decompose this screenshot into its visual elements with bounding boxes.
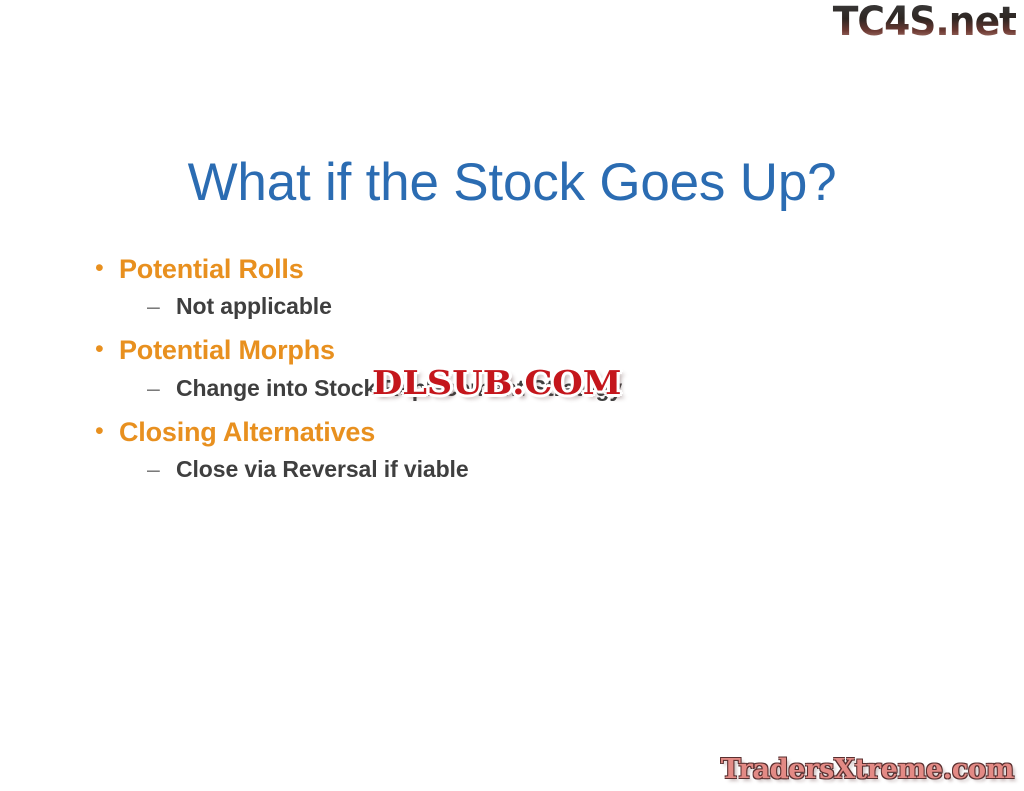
dash-icon: – (147, 456, 176, 482)
subbullet-label: Close via Reversal if viable (176, 456, 469, 482)
presentation-slide: TC4S.net What if the Stock Goes Up? • Po… (0, 0, 1024, 791)
bullet-item-level2: – Close via Reversal if viable (95, 456, 855, 482)
bullet-item-level1: • Potential Rolls (95, 254, 855, 285)
bullet-label: Potential Rolls (119, 254, 304, 285)
bullet-dot-icon: • (95, 256, 119, 281)
bullet-label: Potential Morphs (119, 335, 335, 366)
bullet-label: Closing Alternatives (119, 417, 375, 448)
bullet-dot-icon: • (95, 419, 119, 444)
tradersxtreme-logo: TradersXtreme.com (721, 756, 1014, 783)
page-title: What if the Stock Goes Up? (0, 154, 1024, 212)
bullet-item-level1: • Potential Morphs (95, 335, 855, 366)
bullet-group: • Closing Alternatives – Close via Rever… (95, 417, 855, 482)
bullet-item-level2: – Not applicable (95, 293, 855, 319)
dlsub-watermark: DLSUB.COM (372, 366, 621, 399)
subbullet-label: Not applicable (176, 293, 332, 319)
dash-icon: – (147, 293, 176, 319)
tc4s-logo: TC4S.net (833, 2, 1016, 42)
bullet-group: • Potential Rolls – Not applicable (95, 254, 855, 319)
dash-icon: – (147, 375, 176, 401)
bullet-item-level1: • Closing Alternatives (95, 417, 855, 448)
bullet-dot-icon: • (95, 337, 119, 362)
